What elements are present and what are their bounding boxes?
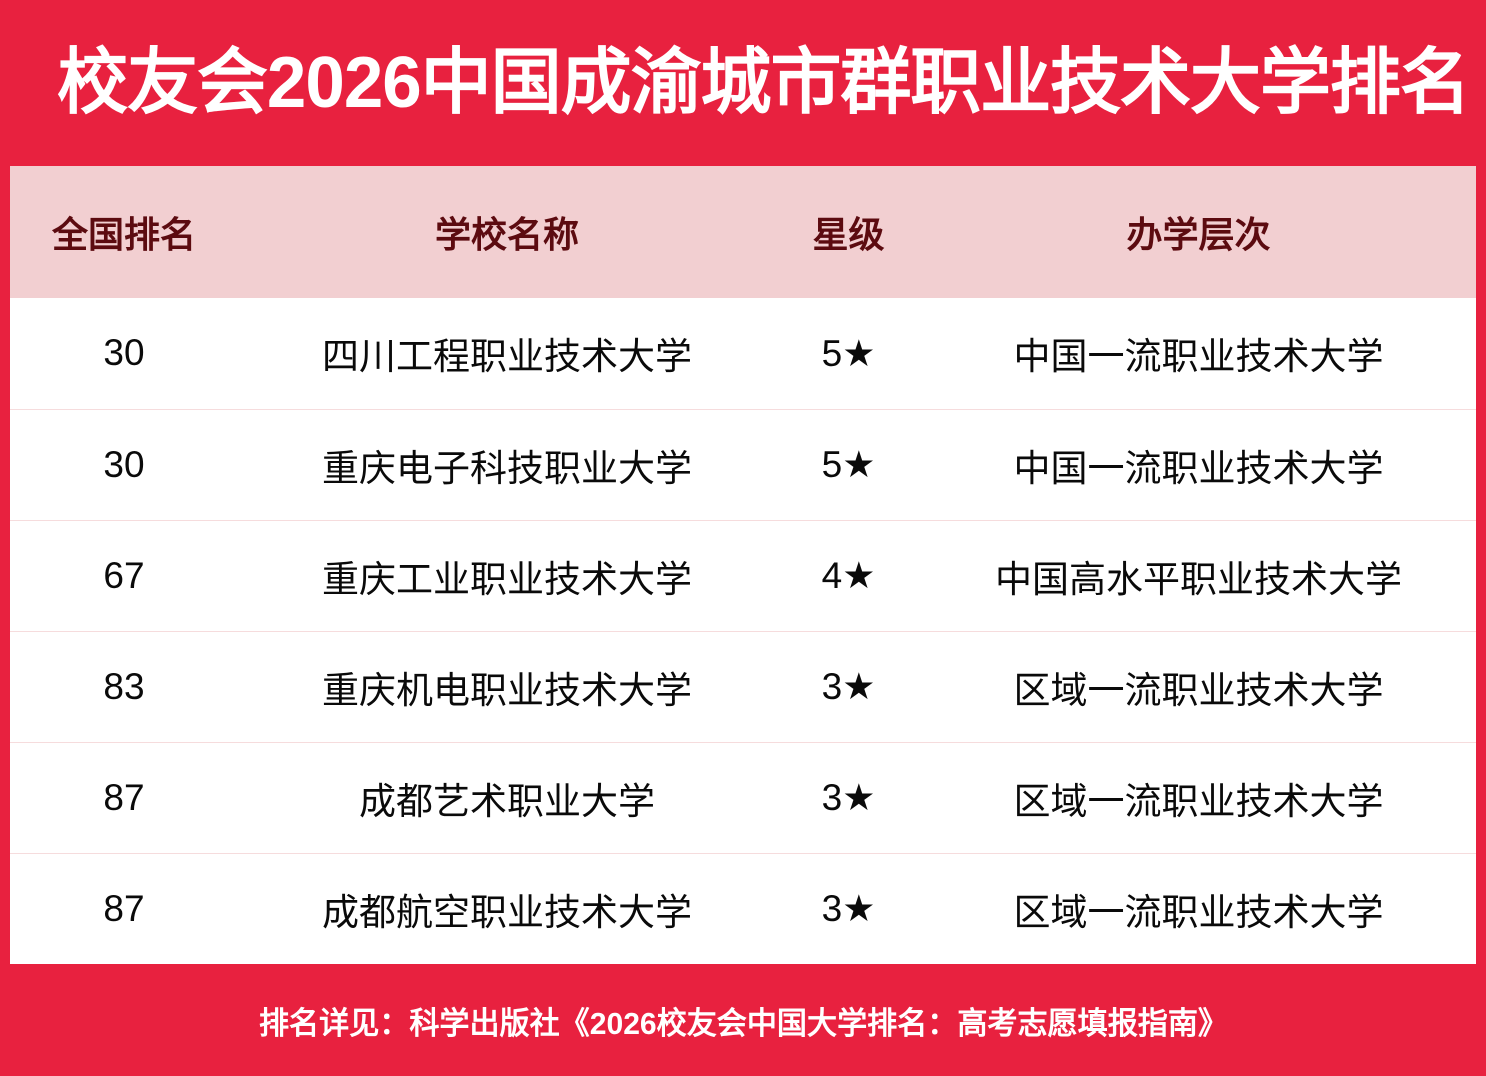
cell-star-rating: 3★ bbox=[776, 742, 921, 853]
cell-level: 中国一流职业技术大学 bbox=[921, 409, 1476, 520]
cell-star-rating: 5★ bbox=[776, 409, 921, 520]
column-header-level: 办学层次 bbox=[921, 166, 1476, 298]
cell-rank: 87 bbox=[10, 853, 238, 964]
cell-school-name: 成都艺术职业大学 bbox=[238, 742, 776, 853]
table-body: 30 四川工程职业技术大学 5★ 中国一流职业技术大学 30 重庆电子科技职业大… bbox=[10, 298, 1476, 964]
cell-level: 区域一流职业技术大学 bbox=[921, 742, 1476, 853]
cell-rank: 87 bbox=[10, 742, 238, 853]
cell-star-rating: 5★ bbox=[776, 298, 921, 409]
table-row: 67 重庆工业职业技术大学 4★ 中国高水平职业技术大学 bbox=[10, 520, 1476, 631]
cell-star-rating: 3★ bbox=[776, 631, 921, 742]
table-row: 87 成都艺术职业大学 3★ 区域一流职业技术大学 bbox=[10, 742, 1476, 853]
ranking-table-container: 全国排名 学校名称 星级 办学层次 30 四川工程职业技术大学 5★ 中国一流职… bbox=[10, 166, 1476, 964]
table-row: 87 成都航空职业技术大学 3★ 区域一流职业技术大学 bbox=[10, 853, 1476, 964]
ranking-table: 全国排名 学校名称 星级 办学层次 30 四川工程职业技术大学 5★ 中国一流职… bbox=[10, 166, 1476, 964]
cell-rank: 67 bbox=[10, 520, 238, 631]
cell-level: 区域一流职业技术大学 bbox=[921, 631, 1476, 742]
title-banner: 校友会2026中国成渝城市群职业技术大学排名 bbox=[0, 0, 1486, 166]
cell-star-rating: 3★ bbox=[776, 853, 921, 964]
footer-band: 排名详见：科学出版社《2026校友会中国大学排名：高考志愿填报指南》 bbox=[0, 964, 1486, 1076]
cell-level: 区域一流职业技术大学 bbox=[921, 853, 1476, 964]
table-row: 30 四川工程职业技术大学 5★ 中国一流职业技术大学 bbox=[10, 298, 1476, 409]
cell-school-name: 四川工程职业技术大学 bbox=[238, 298, 776, 409]
column-header-rank: 全国排名 bbox=[10, 166, 238, 298]
column-header-star: 星级 bbox=[776, 166, 921, 298]
page-title: 校友会2026中国成渝城市群职业技术大学排名 bbox=[0, 47, 1470, 119]
table-row: 83 重庆机电职业技术大学 3★ 区域一流职业技术大学 bbox=[10, 631, 1476, 742]
cell-rank: 83 bbox=[10, 631, 238, 742]
cell-rank: 30 bbox=[10, 409, 238, 520]
cell-level: 中国高水平职业技术大学 bbox=[921, 520, 1476, 631]
footer-note: 排名详见：科学出版社《2026校友会中国大学排名：高考志愿填报指南》 bbox=[259, 998, 1228, 1043]
cell-school-name: 重庆机电职业技术大学 bbox=[238, 631, 776, 742]
table-head: 全国排名 学校名称 星级 办学层次 bbox=[10, 166, 1476, 298]
cell-rank: 30 bbox=[10, 298, 238, 409]
cell-school-name: 重庆工业职业技术大学 bbox=[238, 520, 776, 631]
cell-school-name: 成都航空职业技术大学 bbox=[238, 853, 776, 964]
table-row: 30 重庆电子科技职业大学 5★ 中国一流职业技术大学 bbox=[10, 409, 1476, 520]
cell-star-rating: 4★ bbox=[776, 520, 921, 631]
column-header-name: 学校名称 bbox=[238, 166, 776, 298]
table-header-row: 全国排名 学校名称 星级 办学层次 bbox=[10, 166, 1476, 298]
cell-level: 中国一流职业技术大学 bbox=[921, 298, 1476, 409]
ranking-infographic: 校友会2026中国成渝城市群职业技术大学排名 全国排名 学校名称 星级 办学层次… bbox=[0, 0, 1486, 1076]
cell-school-name: 重庆电子科技职业大学 bbox=[238, 409, 776, 520]
